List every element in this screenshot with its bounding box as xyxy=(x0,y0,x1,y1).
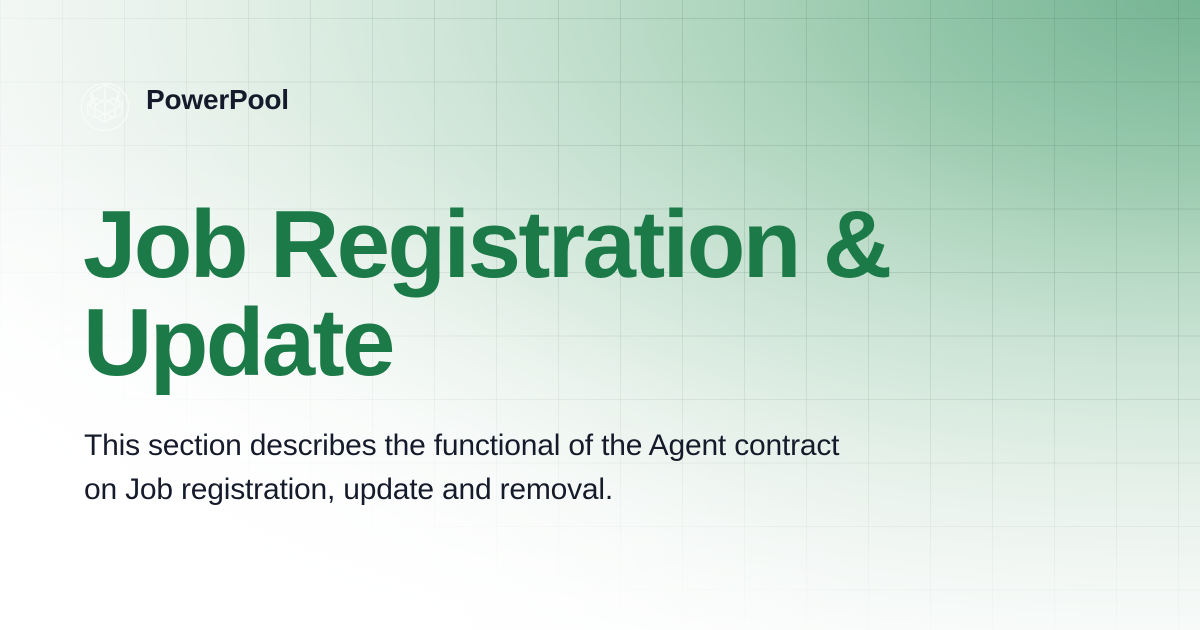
page-subtitle: This section describes the functional of… xyxy=(84,424,874,512)
brand-wordmark[interactable]: PowerPool xyxy=(146,83,289,117)
page-title: Job Registration & Update xyxy=(83,196,923,392)
hero-banner-card: PowerPool Job Registration & Update This… xyxy=(0,0,1200,630)
hero-content: PowerPool Job Registration & Update This… xyxy=(0,0,1200,630)
